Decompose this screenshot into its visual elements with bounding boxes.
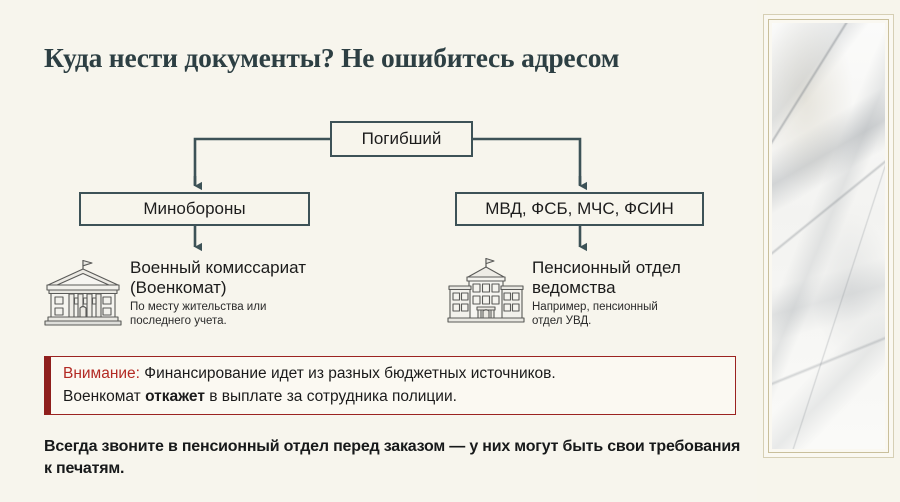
destination-right-text: Пенсионный отдел ведомства Например, пен… bbox=[526, 256, 681, 329]
classical-government-building-icon bbox=[42, 256, 124, 328]
destination-right-subtitle: Например, пенсионный отдел УВД. bbox=[532, 301, 681, 329]
government-office-building-icon bbox=[446, 256, 526, 326]
warning-line-2: Военкомат откажет в выплате за сотрудник… bbox=[63, 386, 556, 409]
flow-node-root[interactable]: Погибший bbox=[330, 121, 473, 157]
warning-line-1-rest: Финансирование идет из разных бюджетных … bbox=[140, 365, 556, 382]
flowchart: Погибший Минобороны МВД, ФСБ, МЧС, ФСИН bbox=[0, 0, 757, 345]
destination-left-text: Военный комиссариат (Военкомат) По месту… bbox=[124, 256, 306, 329]
warning-text: Внимание: Финансирование идет из разных … bbox=[51, 363, 556, 409]
flow-node-other-agencies[interactable]: МВД, ФСБ, МЧС, ФСИН bbox=[455, 192, 704, 226]
destination-right-title: Пенсионный отдел ведомства bbox=[532, 258, 681, 297]
destination-left-subtitle: По месту жительства или последнего учета… bbox=[130, 301, 306, 329]
warning-callout: Внимание: Финансирование идет из разных … bbox=[44, 356, 736, 415]
marble-decoration-panel bbox=[757, 0, 900, 502]
destination-military-commissariat: Военный комиссариат (Военкомат) По месту… bbox=[42, 256, 306, 329]
warning-line-1: Внимание: Финансирование идет из разных … bbox=[63, 363, 556, 386]
warning-line-2-prefix: Военкомат bbox=[63, 388, 145, 405]
warning-accent-label: Внимание: bbox=[63, 365, 140, 382]
warning-line-2-suffix: в выплате за сотрудника полиции. bbox=[205, 388, 457, 405]
marble-surface bbox=[772, 23, 885, 449]
flow-node-minoborony[interactable]: Минобороны bbox=[79, 192, 310, 226]
warning-line-2-strong: откажет bbox=[145, 388, 205, 405]
footer-note: Всегда звоните в пенсионный отдел перед … bbox=[44, 436, 744, 479]
destination-left-title: Военный комиссариат (Военкомат) bbox=[130, 258, 306, 297]
destination-pension-department: Пенсионный отдел ведомства Например, пен… bbox=[446, 256, 681, 329]
